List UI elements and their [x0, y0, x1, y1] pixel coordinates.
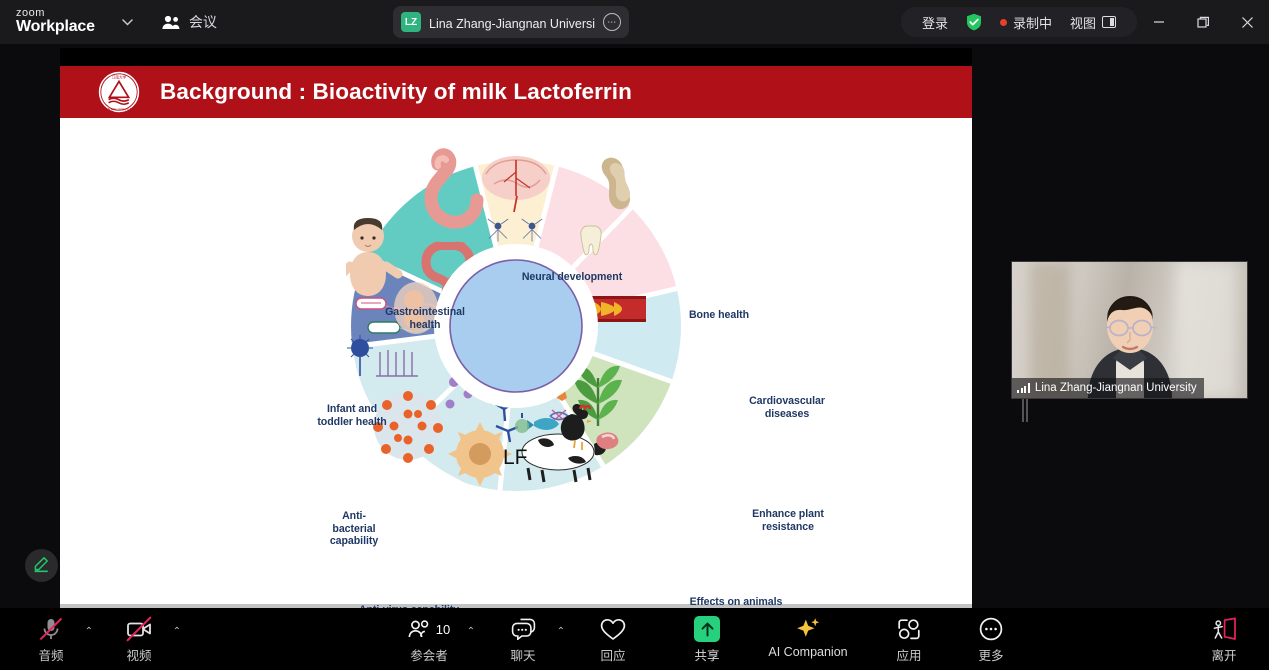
wheel-label-cardiovascular-diseases: Cardiovasculardiseases: [736, 395, 838, 420]
recording-status[interactable]: 录制中: [991, 7, 1061, 37]
people-icon: [161, 15, 181, 30]
reactions-button[interactable]: 回应: [584, 608, 642, 664]
wheel-label-bone-health: Bone health: [680, 309, 758, 322]
shield-check-icon: [966, 13, 982, 31]
meeting-toolbar: 音频 ⌃ 视频 ⌃: [0, 608, 1269, 670]
title-bar-status-group: 登录 录制中 视图: [901, 7, 1137, 37]
slide-body: LF Neural developmentGastrointestinalhea…: [60, 118, 972, 604]
apps-button[interactable]: 应用: [880, 608, 938, 664]
audio-options-caret[interactable]: ⌃: [80, 608, 98, 637]
more-label: 更多: [978, 645, 1003, 664]
sparkle-icon: [795, 616, 821, 642]
video-button[interactable]: 视频: [110, 608, 168, 664]
view-label: 视图: [1070, 13, 1096, 32]
close-button[interactable]: [1225, 0, 1269, 44]
nav-item-meetings[interactable]: 会议: [161, 12, 217, 32]
recording-label: 录制中: [1013, 13, 1052, 32]
share-screen-button[interactable]: 共享: [678, 608, 736, 664]
microphone-muted-icon: [40, 616, 62, 642]
ai-companion-label: AI Companion: [768, 645, 847, 659]
brand-workplace-text: Workplace: [16, 19, 95, 35]
zoom-workplace-logo: zoom Workplace: [16, 8, 95, 36]
share-up-arrow-icon: [694, 616, 720, 642]
meeting-tab[interactable]: LZ Lina Zhang-Jiangnan University的 ⋯: [393, 6, 629, 38]
toolbar-left-group: 音频 ⌃ 视频 ⌃: [22, 608, 186, 664]
title-bar: zoom Workplace 会议 LZ Lina Zhang-Jiangnan…: [0, 0, 1269, 44]
meat-illustration-icon: [596, 432, 618, 449]
participant-name-label: Lina Zhang-Jiangnan University: [1035, 382, 1197, 394]
audio-button[interactable]: 音频: [22, 608, 80, 664]
chat-bubble-icon: [511, 616, 536, 642]
participants-label: 参会者: [410, 645, 448, 664]
slide-title: Background : Bioactivity of milk Lactofe…: [160, 79, 632, 105]
wheel-label-neural-development: Neural development: [512, 271, 632, 284]
more-button[interactable]: 更多: [962, 608, 1020, 664]
participant-name-badge: Lina Zhang-Jiangnan University: [1012, 378, 1204, 398]
slide-top-strip: [60, 48, 972, 66]
video-options-caret[interactable]: ⌃: [168, 608, 186, 637]
chat-options-caret[interactable]: ⌃: [552, 608, 570, 637]
wheel-label-infant-toddler-health: Infant andtoddler health: [306, 403, 398, 428]
avatar: LZ: [401, 12, 421, 32]
svg-text:JIANGNAN UNIVERSITY: JIANGNAN UNIVERSITY: [96, 108, 142, 112]
signin-label: 登录: [922, 13, 948, 32]
wheel-label-enhance-plant-resistance: Enhance plantresistance: [738, 508, 838, 533]
jiangnan-university-seal-icon: 江南大学 JIANGNAN UNIVERSITY: [96, 69, 142, 115]
annotate-button[interactable]: [25, 549, 58, 582]
apps-label: 应用: [896, 645, 921, 664]
minimize-button[interactable]: [1137, 0, 1181, 44]
reactions-label: 回应: [600, 645, 625, 664]
chat-button[interactable]: 聊天: [494, 608, 552, 664]
signal-bars-icon: [1017, 383, 1030, 393]
participants-count: 10: [436, 622, 450, 637]
exit-door-icon: [1211, 616, 1238, 642]
slide-banner: 江南大学 JIANGNAN UNIVERSITY Background : Bi…: [60, 66, 972, 118]
lactoferrin-bioactivity-wheel: LF Neural developmentGastrointestinalhea…: [60, 118, 972, 604]
wheel-label-gastrointestinal-health: Gastrointestinalhealth: [372, 306, 478, 331]
svg-text:江南大学: 江南大学: [112, 74, 127, 79]
meeting-tab-title: Lina Zhang-Jiangnan University的: [429, 13, 595, 32]
ellipsis-icon[interactable]: ⋯: [603, 13, 621, 31]
record-dot-icon: [1000, 19, 1007, 26]
heart-icon: [600, 616, 626, 642]
wheel-label-anti-bacterial-capability: Anti-bacterialcapability: [316, 510, 392, 548]
video-label: 视频: [126, 645, 151, 664]
leave-label: 离开: [1211, 645, 1236, 664]
toolbar-center-group: 10 参会者 ⌃ 聊天 ⌃: [396, 608, 736, 664]
maximize-restore-button[interactable]: [1181, 0, 1225, 44]
audio-label: 音频: [38, 645, 63, 664]
participant-video-tile[interactable]: Lina Zhang-Jiangnan University: [1011, 261, 1248, 399]
layout-icon: [1102, 16, 1116, 28]
meeting-stage: 江南大学 JIANGNAN UNIVERSITY Background : Bi…: [0, 44, 1269, 608]
ellipsis-circle-icon: [979, 616, 1003, 642]
shared-screen-slide[interactable]: 江南大学 JIANGNAN UNIVERSITY Background : Bi…: [60, 48, 972, 627]
leave-meeting-button[interactable]: 离开: [1193, 608, 1255, 664]
wheel-center-label: LF: [503, 446, 528, 470]
security-button[interactable]: [957, 7, 991, 37]
zoom-meeting-window: zoom Workplace 会议 LZ Lina Zhang-Jiangnan…: [0, 0, 1269, 670]
chevron-down-icon[interactable]: [117, 11, 139, 33]
participants-button[interactable]: 10 参会者: [396, 608, 462, 664]
share-label: 共享: [694, 645, 719, 664]
people-icon: 10: [408, 616, 450, 642]
pencil-annotate-icon: [32, 554, 51, 578]
participants-options-caret[interactable]: ⌃: [462, 608, 480, 637]
signin-button[interactable]: 登录: [913, 7, 957, 37]
ai-companion-button[interactable]: AI Companion: [760, 608, 856, 659]
camera-off-icon: [126, 616, 152, 642]
title-bar-right: 登录 录制中 视图: [901, 0, 1269, 44]
view-button[interactable]: 视图: [1061, 7, 1125, 37]
apps-icon: [897, 616, 921, 642]
chat-label: 聊天: [510, 645, 535, 664]
toolbar-right-group: AI Companion 应用: [760, 608, 1020, 664]
nav-item-meetings-label: 会议: [189, 12, 217, 32]
